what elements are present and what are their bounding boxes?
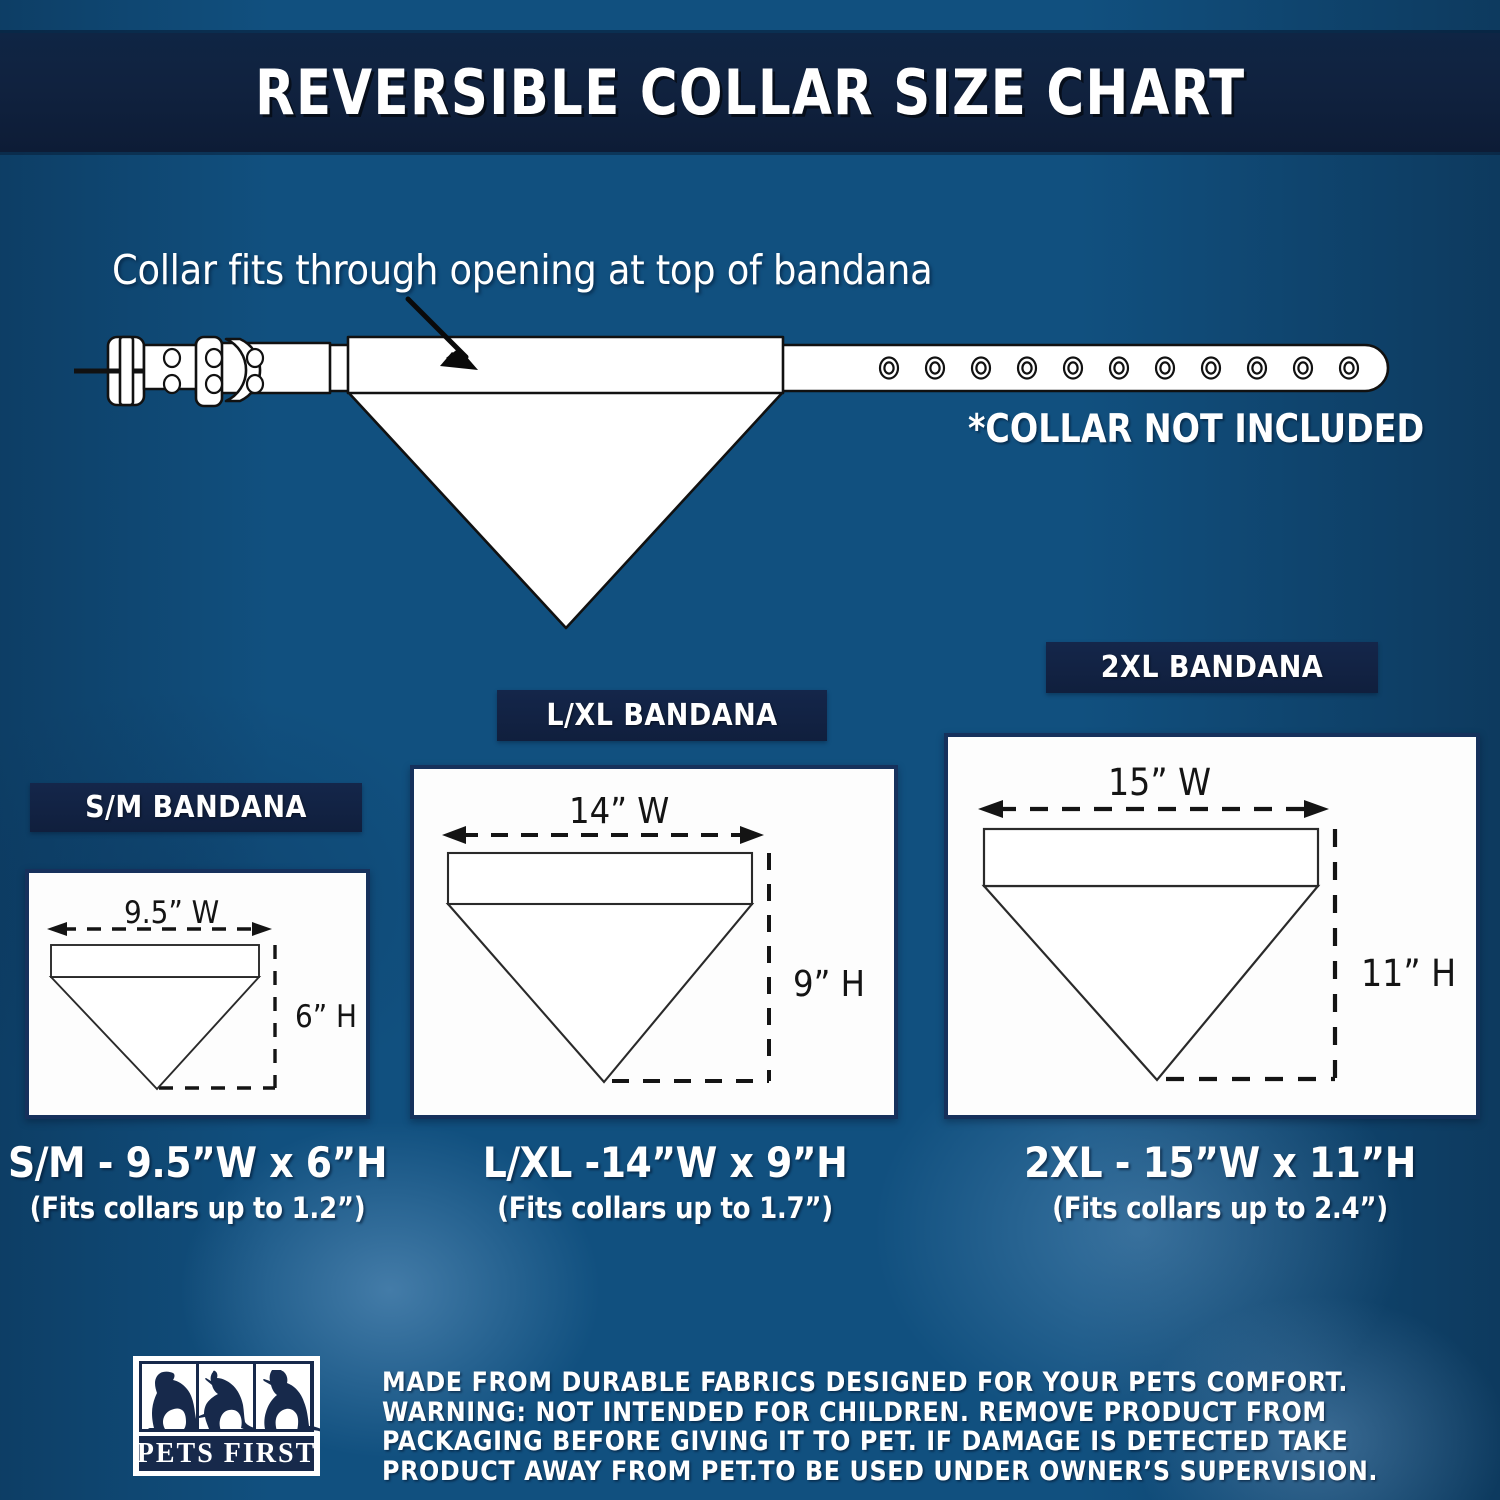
lxl-bandana-triangle bbox=[448, 904, 752, 1082]
sm-height-label: 6” H bbox=[295, 999, 357, 1035]
sm-width-arrow-right bbox=[252, 922, 272, 936]
size-subcaption-lxl: (Fits collars up to 1.7”) bbox=[455, 1191, 875, 1225]
sm-width-arrow-left bbox=[47, 922, 67, 936]
size-tab-2xl-label: 2XL BANDANA bbox=[1101, 650, 1324, 685]
size-diagram-2xl bbox=[948, 737, 1476, 1115]
size-tab-sm-label: S/M BANDANA bbox=[85, 790, 307, 825]
size-caption-2xl: 2XL - 15”W x 11”H bbox=[1000, 1138, 1440, 1187]
x2l-bandana-triangle bbox=[984, 886, 1318, 1080]
size-caption-lxl: L/XL -14”W x 9”H bbox=[455, 1138, 875, 1187]
size-diagram-box-sm: 9.5” W 6” H bbox=[25, 869, 370, 1119]
sm-width-label: 9.5” W bbox=[124, 895, 219, 931]
size-subcaption-sm: (Fits collars up to 1.2”) bbox=[0, 1191, 395, 1225]
collar-not-included-note: *COLLAR NOT INCLUDED bbox=[968, 407, 1424, 452]
footer-line-4: PRODUCT AWAY FROM PET.TO BE USED UNDER O… bbox=[382, 1457, 1392, 1487]
size-caption-sm: S/M - 9.5”W x 6”H bbox=[0, 1138, 395, 1187]
size-tab-2xl: 2XL BANDANA bbox=[1046, 642, 1378, 693]
footer-line-1: MADE FROM DURABLE FABRICS DESIGNED FOR Y… bbox=[382, 1368, 1392, 1398]
pets-first-logo: PETS FIRST bbox=[133, 1356, 320, 1476]
lxl-width-arrow-right bbox=[740, 826, 764, 844]
footer-disclaimer: MADE FROM DURABLE FABRICS DESIGNED FOR Y… bbox=[382, 1368, 1392, 1486]
size-diagram-box-2xl: 15” W 11” H bbox=[944, 733, 1480, 1119]
size-tab-lxl: L/XL BANDANA bbox=[497, 690, 827, 741]
collar-instruction-text: Collar fits through opening at top of ba… bbox=[112, 246, 932, 294]
x2l-height-label: 11” H bbox=[1361, 952, 1456, 995]
page-title: REVERSIBLE COLLAR SIZE CHART bbox=[255, 56, 1245, 129]
lxl-bandana-sleeve bbox=[448, 853, 752, 904]
x2l-width-arrow-left bbox=[978, 800, 1003, 818]
size-subcaption-2xl: (Fits collars up to 2.4”) bbox=[1000, 1191, 1440, 1225]
lxl-height-label: 9” H bbox=[793, 964, 865, 1005]
x2l-width-arrow-right bbox=[1304, 800, 1329, 818]
x2l-bandana-sleeve bbox=[984, 829, 1318, 886]
logo-text: PETS FIRST bbox=[137, 1438, 317, 1469]
size-diagram-box-lxl: 14” W 9” H bbox=[410, 765, 898, 1119]
x2l-width-label: 15” W bbox=[1108, 761, 1211, 804]
header-bar: REVERSIBLE COLLAR SIZE CHART bbox=[0, 33, 1500, 152]
footer-line-2: WARNING: NOT INTENDED FOR CHILDREN. REMO… bbox=[382, 1398, 1392, 1428]
size-tab-sm: S/M BANDANA bbox=[30, 783, 362, 832]
size-tab-lxl-label: L/XL BANDANA bbox=[546, 698, 777, 733]
sm-bandana-sleeve bbox=[51, 945, 259, 977]
sm-bandana-triangle bbox=[51, 977, 259, 1089]
footer-line-3: PACKAGING BEFORE GIVING IT TO PET. IF DA… bbox=[382, 1427, 1392, 1457]
lxl-width-label: 14” W bbox=[569, 791, 669, 832]
lxl-width-arrow-left bbox=[442, 826, 466, 844]
